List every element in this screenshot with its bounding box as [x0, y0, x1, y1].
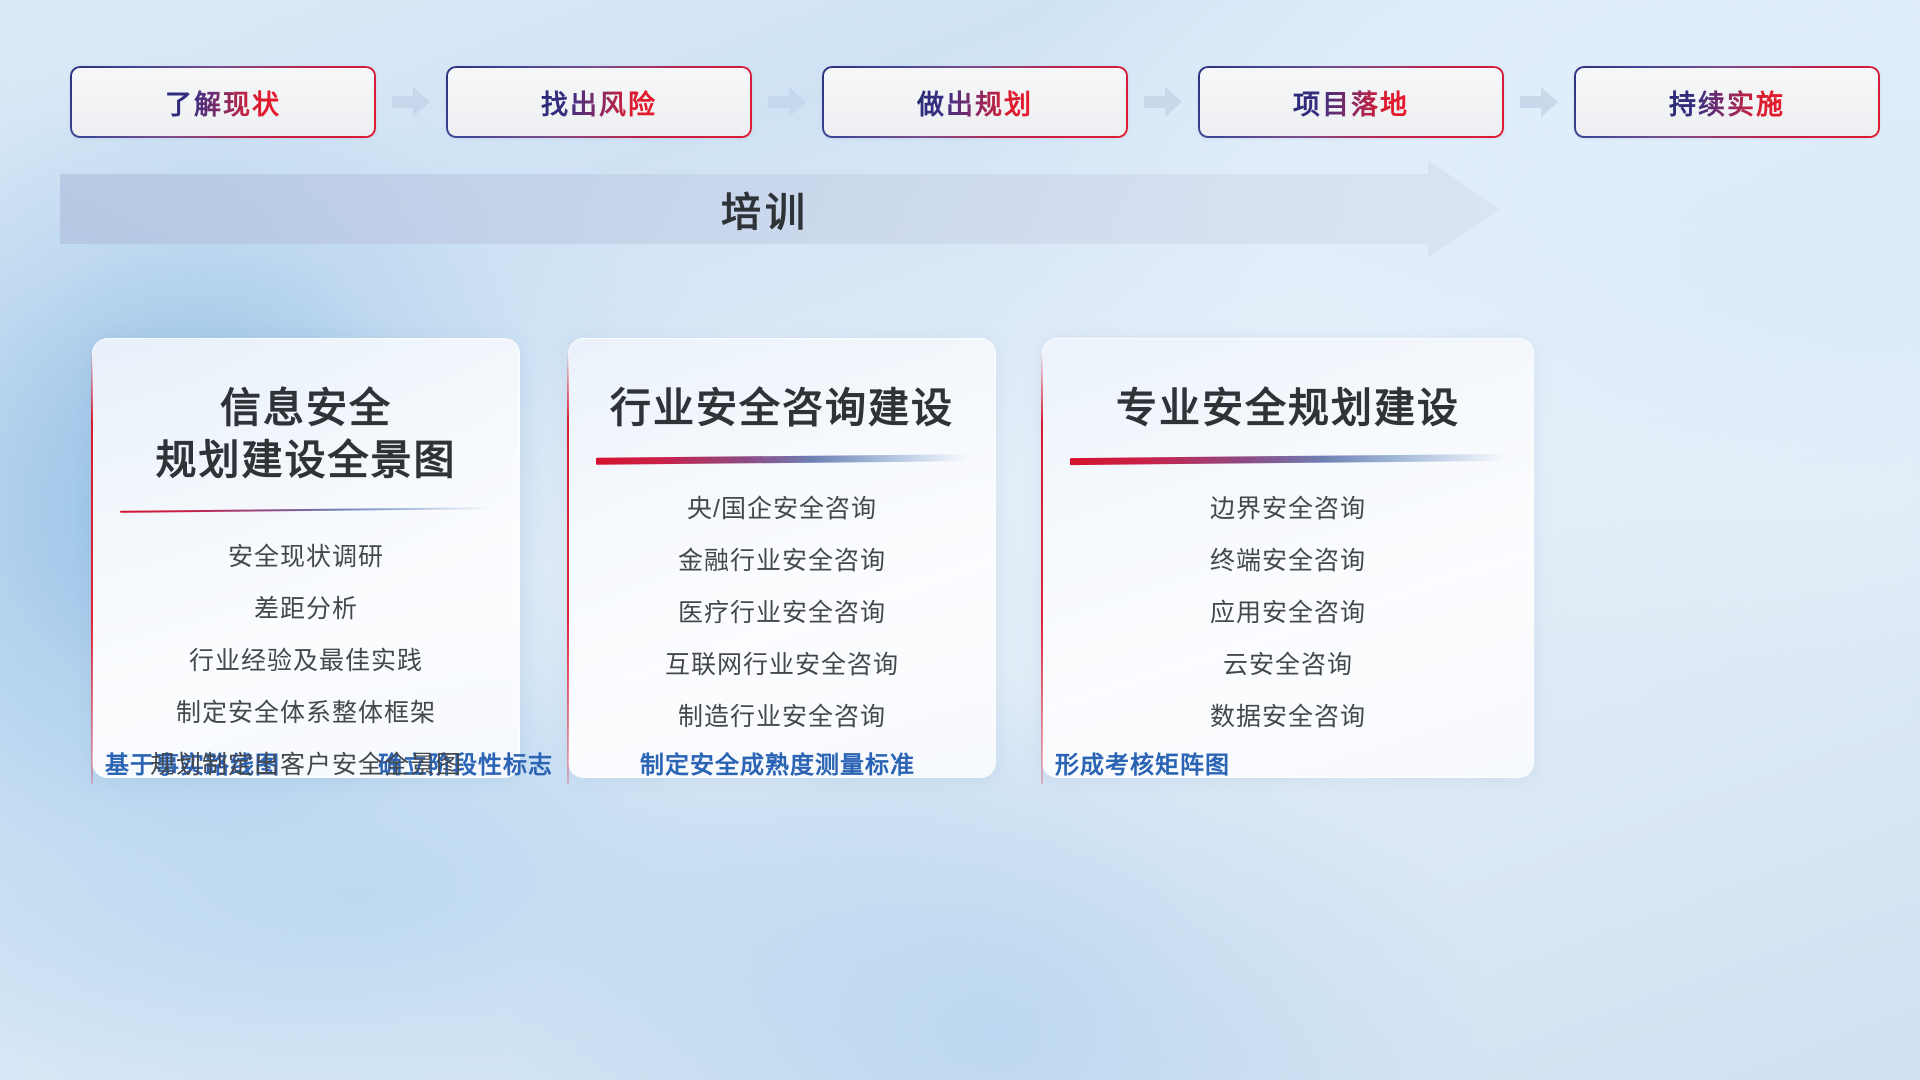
service-card-inner: 专业安全规划建设边界安全咨询终端安全咨询应用安全咨询云安全咨询数据安全咨询: [1042, 338, 1534, 778]
list-item: 数据安全咨询: [1210, 705, 1366, 730]
arrow-right-icon: [1516, 79, 1562, 125]
process-step-4[interactable]: 项目落地: [1198, 66, 1504, 138]
list-item: 医疗行业安全咨询: [665, 601, 899, 626]
process-step-label: 项目落地: [1293, 83, 1409, 122]
process-step-2[interactable]: 找出风险: [446, 66, 752, 138]
banner-label: 培训: [60, 160, 1500, 258]
service-card-1[interactable]: 信息安全 规划建设全景图安全现状调研差距分析行业经验及最佳实践制定安全体系整体框…: [92, 338, 520, 778]
list-item: 差距分析: [150, 597, 462, 622]
list-item: 制定安全体系整体框架: [150, 701, 462, 726]
service-card-divider: [596, 455, 968, 466]
arrow-right-icon: [1140, 79, 1186, 125]
process-step-label: 持续实施: [1669, 83, 1785, 122]
process-step-label: 了解现状: [165, 83, 281, 122]
list-item: 行业经验及最佳实践: [150, 649, 462, 674]
arrow-right-icon: [388, 79, 434, 125]
arrow-right-icon: [764, 79, 810, 125]
process-step-5[interactable]: 持续实施: [1574, 66, 1880, 138]
service-card-title: 专业安全规划建设: [1116, 382, 1460, 434]
process-step-1[interactable]: 了解现状: [70, 66, 376, 138]
list-item: 央/国企安全咨询: [665, 497, 899, 522]
list-item: 制造行业安全咨询: [665, 705, 899, 730]
process-step-row: 了解现状找出风险做出规划项目落地持续实施: [0, 62, 1920, 142]
list-item: 规划制定出客户安全全景图: [150, 753, 462, 778]
service-card-list: 边界安全咨询终端安全咨询应用安全咨询云安全咨询数据安全咨询: [1210, 497, 1366, 730]
list-item: 互联网行业安全咨询: [665, 653, 899, 678]
service-card-title: 行业安全咨询建设: [610, 382, 954, 434]
service-card-2[interactable]: 行业安全咨询建设央/国企安全咨询金融行业安全咨询医疗行业安全咨询互联网行业安全咨…: [568, 338, 996, 778]
list-item: 应用安全咨询: [1210, 601, 1366, 626]
list-item: 终端安全咨询: [1210, 549, 1366, 574]
process-step-3[interactable]: 做出规划: [822, 66, 1128, 138]
training-banner: 培训: [60, 160, 1500, 258]
card-row: 信息安全 规划建设全景图安全现状调研差距分析行业经验及最佳实践制定安全体系整体框…: [0, 338, 1920, 778]
service-card-list: 安全现状调研差距分析行业经验及最佳实践制定安全体系整体框架规划制定出客户安全全景…: [150, 545, 462, 778]
process-step-label: 找出风险: [541, 83, 657, 122]
service-card-inner: 信息安全 规划建设全景图安全现状调研差距分析行业经验及最佳实践制定安全体系整体框…: [92, 338, 520, 778]
service-card-inner: 行业安全咨询建设央/国企安全咨询金融行业安全咨询医疗行业安全咨询互联网行业安全咨…: [568, 338, 996, 778]
process-step-label: 做出规划: [917, 83, 1033, 122]
service-card-title: 信息安全 规划建设全景图: [156, 382, 457, 487]
service-card-divider: [120, 507, 492, 513]
list-item: 云安全咨询: [1210, 653, 1366, 678]
list-item: 金融行业安全咨询: [665, 549, 899, 574]
service-card-divider: [1070, 454, 1506, 465]
list-item: 安全现状调研: [150, 545, 462, 570]
list-item: 边界安全咨询: [1210, 497, 1366, 522]
service-card-3[interactable]: 专业安全规划建设边界安全咨询终端安全咨询应用安全咨询云安全咨询数据安全咨询: [1042, 338, 1534, 778]
service-card-list: 央/国企安全咨询金融行业安全咨询医疗行业安全咨询互联网行业安全咨询制造行业安全咨…: [665, 497, 899, 730]
